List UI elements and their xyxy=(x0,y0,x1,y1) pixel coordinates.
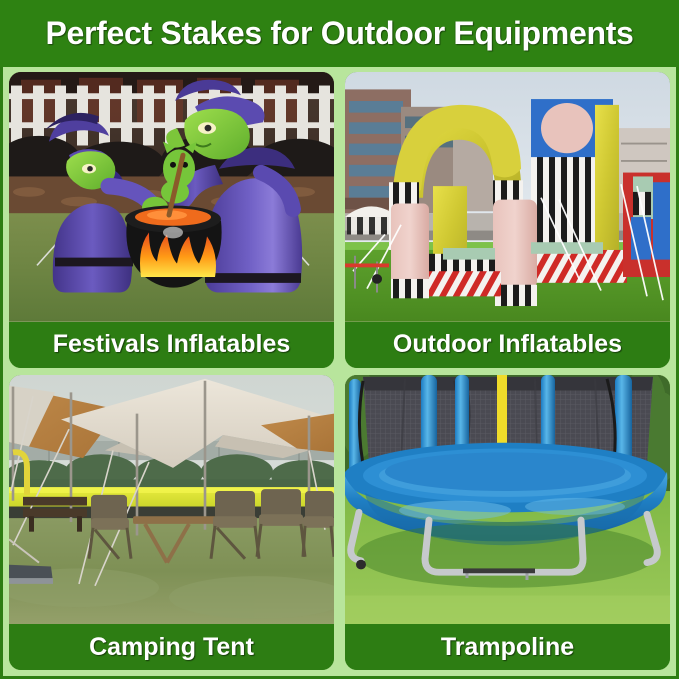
illustration-halloween-witches xyxy=(9,72,334,322)
caption-festivals-inflatables: Festivals Inflatables xyxy=(9,322,334,368)
photo-festivals-inflatables xyxy=(9,72,334,322)
infographic-page: Perfect Stakes for Outdoor Equipments xyxy=(0,0,679,679)
caption-outdoor-inflatables: Outdoor Inflatables xyxy=(345,322,670,368)
photo-outdoor-inflatables xyxy=(345,72,670,322)
caption-camping-tent: Camping Tent xyxy=(9,624,334,670)
card-outdoor-inflatables[interactable]: Outdoor Inflatables xyxy=(345,72,670,368)
caption-text: Festivals Inflatables xyxy=(53,330,291,359)
caption-trampoline: Trampoline xyxy=(345,624,670,670)
illustration-trampoline xyxy=(345,375,670,625)
photo-trampoline xyxy=(345,375,670,625)
caption-text: Trampoline xyxy=(441,633,574,662)
product-use-grid: Festivals Inflatables xyxy=(3,67,676,676)
caption-text: Outdoor Inflatables xyxy=(393,330,622,359)
illustration-camping-tarp xyxy=(9,375,334,625)
page-title: Perfect Stakes for Outdoor Equipments xyxy=(45,15,633,52)
caption-text: Camping Tent xyxy=(89,633,254,662)
card-camping-tent[interactable]: Camping Tent xyxy=(9,375,334,671)
card-festivals-inflatables[interactable]: Festivals Inflatables xyxy=(9,72,334,368)
illustration-inflatable-structures xyxy=(345,72,670,322)
card-trampoline[interactable]: Trampoline xyxy=(345,375,670,671)
photo-camping-tent xyxy=(9,375,334,625)
header-banner: Perfect Stakes for Outdoor Equipments xyxy=(0,0,679,67)
